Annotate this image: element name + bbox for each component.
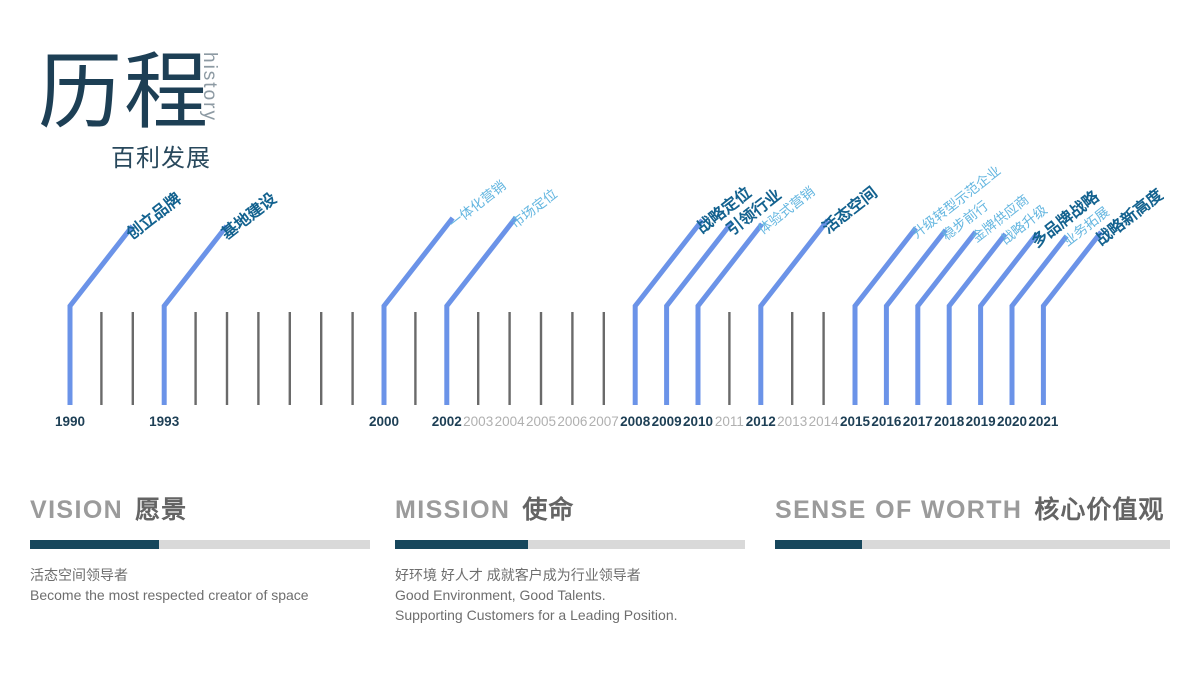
timeline-event-line [981, 234, 1037, 405]
panel-body-line: 活态空间领导者 [30, 565, 370, 585]
timeline-event-line [384, 218, 453, 405]
panel-body-line: Become the most respected creator of spa… [30, 585, 370, 605]
panel-heading: VISION愿景 [30, 490, 370, 526]
timeline-year-2003: 2003 [463, 414, 493, 429]
panel-progress-bar [395, 540, 745, 549]
panel-progress-bar [30, 540, 370, 549]
panel-heading: SENSE OF WORTH核心价值观 [775, 490, 1170, 526]
panel-body: 好环境 好人才 成就客户成为行业领导者Good Environment, Goo… [395, 565, 745, 625]
timeline-year-2010: 2010 [683, 414, 713, 429]
timeline-year-2000: 2000 [369, 414, 399, 429]
panel-progress-bar [775, 540, 1170, 549]
timeline-year-2015: 2015 [840, 414, 870, 429]
panel-body-line: 好环境 好人才 成就客户成为行业领导者 [395, 565, 745, 585]
timeline-year-2007: 2007 [589, 414, 619, 429]
timeline-year-2014: 2014 [809, 414, 839, 429]
value-panels: VISION愿景活态空间领导者Become the most respected… [0, 490, 1200, 675]
timeline-year-2020: 2020 [997, 414, 1027, 429]
panel-vision: VISION愿景活态空间领导者Become the most respected… [30, 490, 370, 605]
panel-heading-cn: 使命 [522, 496, 574, 524]
timeline-year-2006: 2006 [557, 414, 587, 429]
panel-progress-fill [775, 540, 862, 549]
timeline-year-2019: 2019 [966, 414, 996, 429]
panel-heading: MISSION使命 [395, 490, 745, 526]
timeline-year-2005: 2005 [526, 414, 556, 429]
timeline-year-2018: 2018 [934, 414, 964, 429]
panel-heading-en: VISION [30, 496, 123, 524]
timeline-event-line [447, 218, 516, 405]
panel-progress-fill [395, 540, 528, 549]
timeline-event-line [761, 220, 828, 405]
panel-progress-fill [30, 540, 159, 549]
panel-heading-cn: 核心价值观 [1034, 496, 1164, 524]
timeline-year-1990: 1990 [55, 414, 85, 429]
timeline-year-2017: 2017 [903, 414, 933, 429]
timeline-year-2012: 2012 [746, 414, 776, 429]
panel-heading-cn: 愿景 [135, 496, 187, 524]
panel-mission: MISSION使命好环境 好人才 成就客户成为行业领导者Good Environ… [395, 490, 745, 625]
history-timeline: 1990199320002002200320042005200620072008… [0, 0, 1200, 450]
slide-canvas: 历程 history 百利发展 199019932000200220032004… [0, 0, 1200, 675]
panel-body-line: Good Environment, Good Talents. [395, 585, 745, 605]
timeline-year-2009: 2009 [652, 414, 682, 429]
timeline-year-2008: 2008 [620, 414, 650, 429]
panel-body: 活态空间领导者Become the most respected creator… [30, 565, 370, 605]
timeline-year-2021: 2021 [1028, 414, 1058, 429]
panel-heading-en: SENSE OF WORTH [775, 496, 1022, 524]
timeline-event-line [949, 234, 1005, 405]
timeline-year-2013: 2013 [777, 414, 807, 429]
timeline-year-2004: 2004 [495, 414, 525, 429]
timeline-event-line [1012, 236, 1067, 405]
timeline-year-2002: 2002 [432, 414, 462, 429]
panel-sense-of-worth: SENSE OF WORTH核心价值观 [775, 490, 1170, 565]
timeline-year-2016: 2016 [871, 414, 901, 429]
timeline-year-1993: 1993 [149, 414, 179, 429]
panel-body-line: Supporting Customers for a Leading Posit… [395, 605, 745, 625]
panel-heading-en: MISSION [395, 496, 510, 524]
timeline-year-2011: 2011 [715, 414, 744, 429]
